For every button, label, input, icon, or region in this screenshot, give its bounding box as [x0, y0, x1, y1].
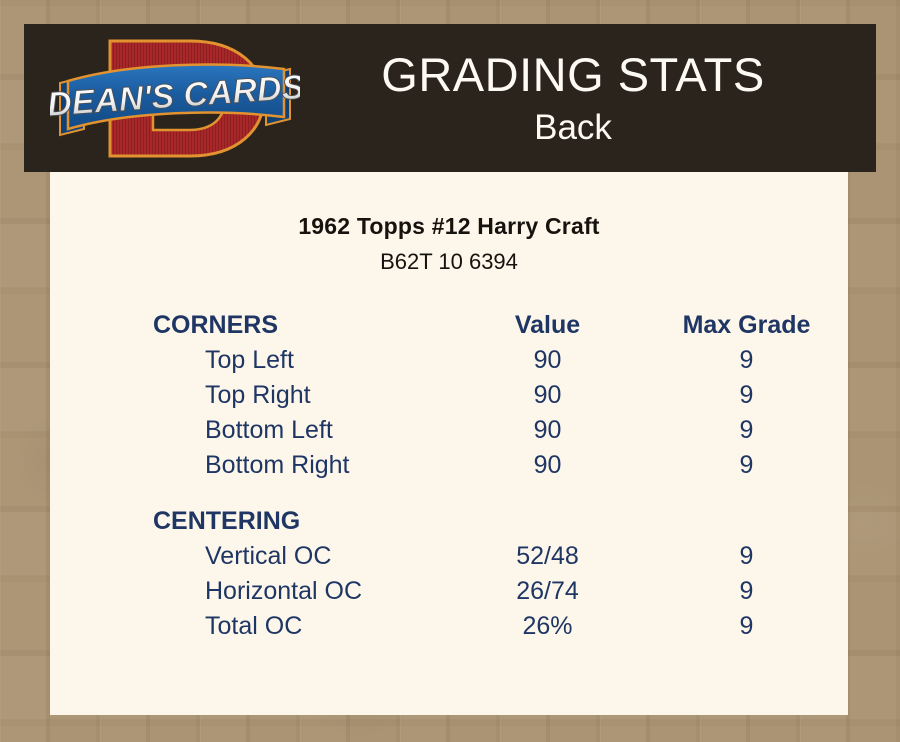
deans-cards-logo[interactable]: DEAN'S CARDS	[50, 31, 300, 166]
row-value: 90	[450, 378, 645, 413]
row-label: Vertical OC	[50, 539, 450, 574]
row-value: 52/48	[450, 539, 645, 574]
section-header-spacer-grade	[645, 483, 848, 539]
row-value: 90	[450, 413, 645, 448]
table-row: Vertical OC 52/48 9	[50, 539, 848, 574]
row-value: 90	[450, 448, 645, 483]
page-title: GRADING STATS	[300, 51, 846, 98]
row-label: Bottom Left	[50, 413, 450, 448]
section-header-centering: CENTERING	[50, 483, 450, 539]
header-bar: DEAN'S CARDS GRADING STATS Back	[24, 24, 876, 172]
row-max-grade: 9	[645, 343, 848, 378]
table-row: Horizontal OC 26/74 9	[50, 574, 848, 609]
row-value: 26/74	[450, 574, 645, 609]
deans-cards-logo-graphic: DEAN'S CARDS	[50, 31, 300, 166]
row-label: Top Right	[50, 378, 450, 413]
row-max-grade: 9	[645, 609, 848, 644]
row-value: 90	[450, 343, 645, 378]
card-serial: B62T 10 6394	[50, 249, 848, 275]
section-header-row: CENTERING	[50, 483, 848, 539]
column-header-value: Value	[450, 308, 645, 343]
column-header-max-grade: Max Grade	[645, 308, 848, 343]
table-row: Total OC 26% 9	[50, 609, 848, 644]
row-label: Bottom Right	[50, 448, 450, 483]
header-titles: GRADING STATS Back	[300, 51, 876, 145]
row-max-grade: 9	[645, 574, 848, 609]
row-max-grade: 9	[645, 413, 848, 448]
section-header-spacer-value	[450, 483, 645, 539]
section-header-corners: CORNERS	[50, 308, 450, 343]
row-label: Top Left	[50, 343, 450, 378]
row-max-grade: 9	[645, 448, 848, 483]
table-row: Top Left 90 9	[50, 343, 848, 378]
card-title: 1962 Topps #12 Harry Craft	[50, 213, 848, 240]
row-max-grade: 9	[645, 378, 848, 413]
table-row: Bottom Left 90 9	[50, 413, 848, 448]
row-max-grade: 9	[645, 539, 848, 574]
grading-stats-table: CORNERS Value Max Grade Top Left 90 9 To…	[50, 308, 848, 644]
row-value: 26%	[450, 609, 645, 644]
table-row: Bottom Right 90 9	[50, 448, 848, 483]
table-header-row: CORNERS Value Max Grade	[50, 308, 848, 343]
row-label: Total OC	[50, 609, 450, 644]
page-subtitle: Back	[300, 110, 846, 145]
grading-stats-body: CORNERS Value Max Grade Top Left 90 9 To…	[50, 308, 848, 644]
row-label: Horizontal OC	[50, 574, 450, 609]
content-panel: 1962 Topps #12 Harry Craft B62T 10 6394 …	[50, 172, 848, 715]
table-row: Top Right 90 9	[50, 378, 848, 413]
